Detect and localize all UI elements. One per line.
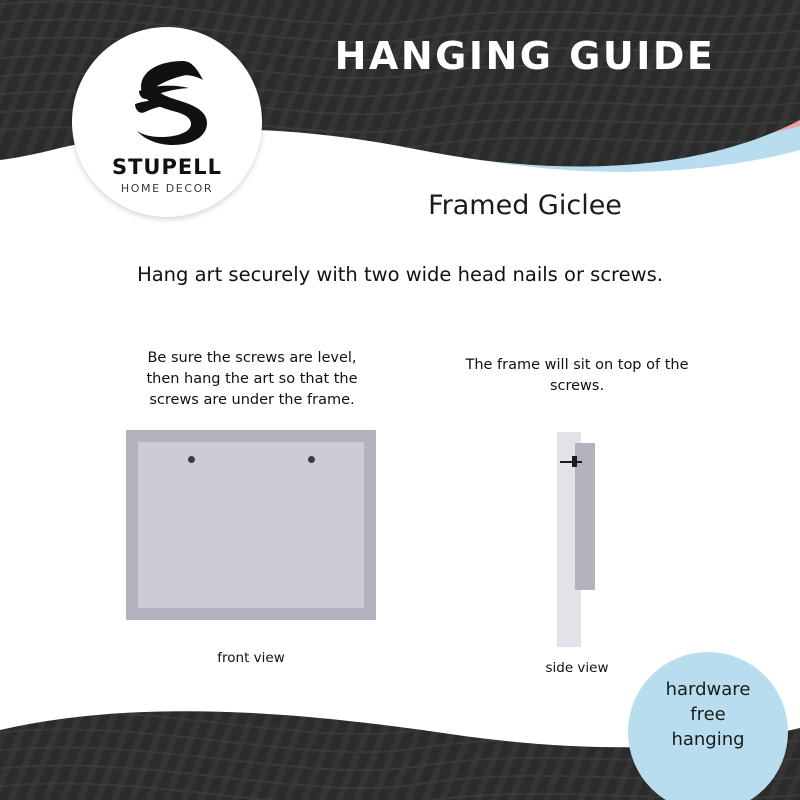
front-view-frame-diagram: [126, 430, 376, 620]
front-view-note: Be sure the screws are level, then hang …: [132, 348, 372, 411]
main-instruction: Hang art securely with two wide head nai…: [0, 263, 800, 286]
badge-line-2: free: [628, 702, 788, 727]
screw-dot-right-icon: [308, 456, 315, 463]
hardware-free-badge: hardware free hanging: [628, 652, 788, 800]
side-view-note: The frame will sit on top of the screws.: [462, 355, 692, 397]
hardware-free-badge-text: hardware free hanging: [628, 677, 788, 752]
side-view-screw-head-icon: [572, 456, 577, 467]
stupell-swoosh-logo-icon: [119, 57, 215, 149]
screw-dot-left-icon: [188, 456, 195, 463]
side-view-screw-icon: [560, 461, 582, 463]
logo-badge: STUPELL HOME DECOR: [72, 27, 262, 217]
hanging-guide-page: HANGING GUIDE STUPELL HOME DECOR Framed …: [0, 0, 800, 800]
front-view-caption: front view: [126, 650, 376, 666]
logo-subtitle: HOME DECOR: [72, 182, 262, 195]
logo-name: STUPELL: [72, 155, 262, 179]
badge-line-3: hanging: [628, 727, 788, 752]
side-view-frame: [575, 443, 595, 590]
page-title: HANGING GUIDE: [290, 34, 760, 78]
product-type-heading: Framed Giclee: [290, 190, 760, 221]
front-view-frame-inner: [138, 442, 364, 608]
badge-line-1: hardware: [628, 677, 788, 702]
